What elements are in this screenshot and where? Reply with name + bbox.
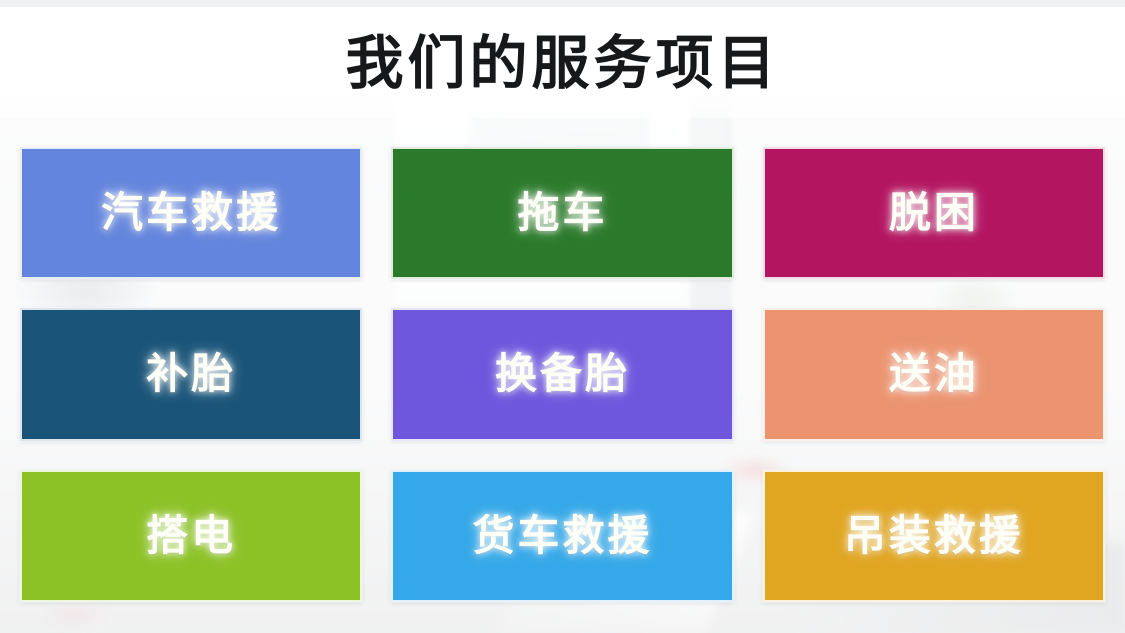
- service-tile-crane-rescue[interactable]: 吊装救援: [763, 470, 1105, 602]
- service-tile-label: 补胎: [146, 353, 236, 395]
- service-tile-label: 送油: [889, 353, 979, 395]
- service-tile-label: 脱困: [889, 192, 979, 234]
- service-tile-jump-start[interactable]: 搭电: [20, 470, 362, 602]
- service-tile-fuel-delivery[interactable]: 送油: [763, 308, 1105, 440]
- title-banner: 我们的服务项目: [0, 8, 1125, 118]
- service-tile-tow-truck[interactable]: 拖车: [391, 147, 733, 279]
- service-items-poster: 我们的服务项目 汽车救援 拖车 脱困 补胎 换备胎 送油 搭电 货车救援 吊装救…: [0, 0, 1125, 633]
- page-title: 我们的服务项目: [345, 34, 779, 92]
- service-tile-label: 汽车救援: [101, 192, 281, 234]
- service-tile-label: 搭电: [146, 515, 236, 557]
- top-edge-strip: [0, 0, 1125, 7]
- service-tile-car-rescue[interactable]: 汽车救援: [20, 147, 362, 279]
- service-tile-grid: 汽车救援 拖车 脱困 补胎 换备胎 送油 搭电 货车救援 吊装救援: [20, 147, 1105, 602]
- service-tile-label: 货车救援: [472, 515, 652, 557]
- service-tile-extrication[interactable]: 脱困: [763, 147, 1105, 279]
- service-tile-tire-repair[interactable]: 补胎: [20, 308, 362, 440]
- service-tile-label: 吊装救援: [844, 515, 1024, 557]
- service-tile-spare-tire-change[interactable]: 换备胎: [391, 308, 733, 440]
- service-tile-label: 换备胎: [495, 353, 630, 395]
- service-tile-truck-rescue[interactable]: 货车救援: [391, 470, 733, 602]
- service-tile-label: 拖车: [517, 192, 607, 234]
